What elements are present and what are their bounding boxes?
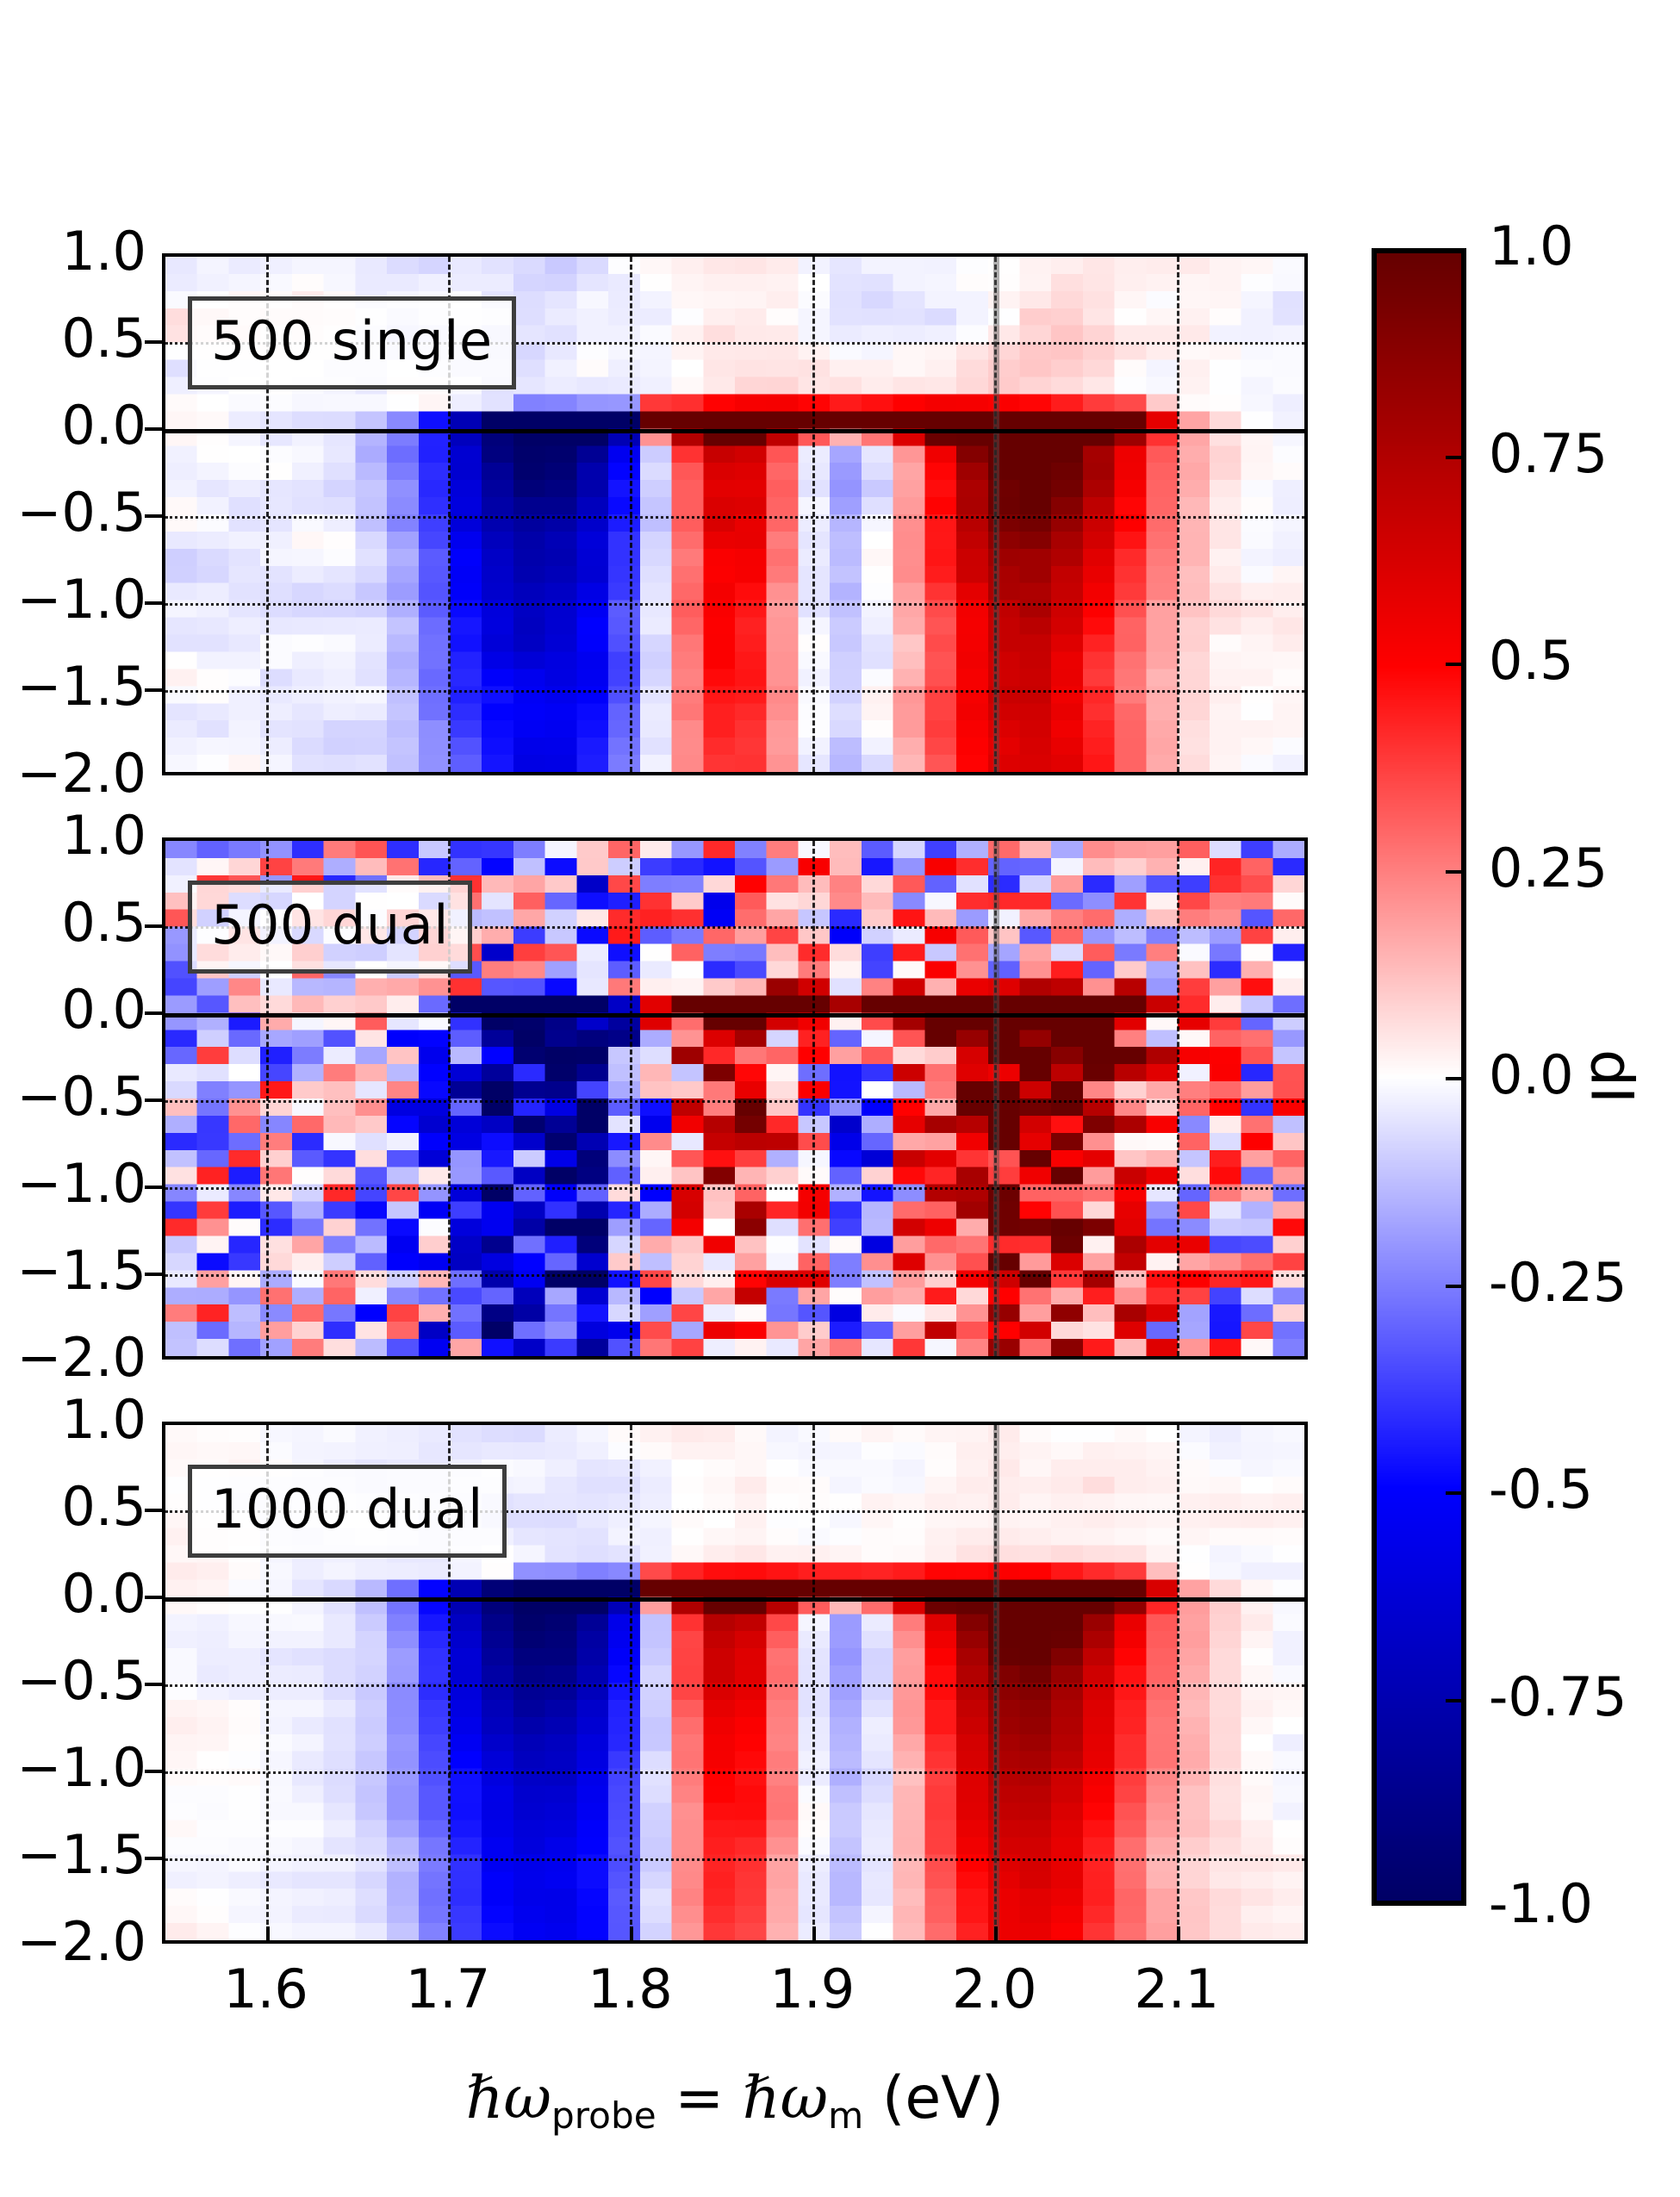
x-tick-label: 1.9 (726, 1963, 899, 2016)
x-tick-label: 1.8 (544, 1963, 716, 2016)
y-tick-mark (145, 340, 164, 344)
y-tick-label: −1.5 (0, 1828, 146, 1882)
x-tick-mark (812, 1926, 816, 1944)
colorbar-tick-mark (1446, 1699, 1465, 1702)
y-tick-label: 0.5 (0, 1480, 146, 1534)
colorbar-tick-label: 0.25 (1489, 842, 1608, 895)
panel-1000-dual[interactable]: 1000 dual (162, 1422, 1308, 1944)
panel-500-dual[interactable]: 500 dual (162, 837, 1308, 1360)
y-tick-mark (145, 1011, 164, 1015)
x-tick-label: 2.0 (908, 1963, 1080, 2016)
y-tick-mark (145, 1509, 164, 1512)
colorbar-tick-mark (1446, 456, 1465, 459)
y-tick-mark (145, 1683, 164, 1686)
y-tick-label: −2.0 (0, 747, 146, 800)
panel-1000-dual-label: 1000 dual (188, 1465, 507, 1558)
probe-marker-line-2eV (993, 841, 999, 1356)
x-tick-mark (994, 1926, 998, 1944)
figure-root: 𝜏21 (ps) 𝜏21 (ps) 𝜏21 (ps) ℏ𝜔probe = ℏ𝜔m… (0, 0, 1680, 2197)
y-tick-label: −2.0 (0, 1915, 146, 1969)
y-tick-label: 0.0 (0, 983, 146, 1036)
probe-marker-line-2eV (993, 257, 999, 772)
y-tick-label: −0.5 (0, 486, 146, 539)
colorbar-tick-label: -1.0 (1489, 1877, 1593, 1931)
y-tick-label: 0.5 (0, 896, 146, 949)
x-axis-label: ℏ𝜔probe = ℏ𝜔m (eV) (162, 2064, 1308, 2137)
probe-marker-line-2eV (993, 1425, 999, 1940)
x-tick-label: 1.7 (362, 1963, 534, 2016)
panel-500-single-label: 500 single (188, 296, 516, 389)
y-tick-mark (145, 1186, 164, 1189)
y-tick-label: 0.0 (0, 1567, 146, 1621)
x-tick-label: 2.1 (1091, 1963, 1263, 2016)
y-tick-label: −0.5 (0, 1070, 146, 1123)
colorbar-tick-label: -0.5 (1489, 1463, 1593, 1516)
colorbar-tick-label: 0.0 (1489, 1049, 1574, 1102)
colorbar-tick-label: 1.0 (1489, 220, 1574, 273)
colorbar-tick-label: -0.25 (1489, 1256, 1627, 1310)
x-tick-label: 1.6 (180, 1963, 352, 2016)
y-tick-label: 0.0 (0, 399, 146, 452)
colorbar-label: dI (1577, 948, 1646, 1206)
y-tick-label: −1.5 (0, 660, 146, 713)
colorbar-tick-mark (1446, 870, 1465, 874)
colorbar-tick-mark (1446, 1077, 1465, 1080)
y-tick-label: −1.0 (0, 1741, 146, 1795)
x-tick-mark (266, 1926, 270, 1944)
y-tick-mark (145, 1273, 164, 1276)
y-tick-label: −1.0 (0, 573, 146, 626)
panel-500-dual-label: 500 dual (188, 881, 472, 974)
colorbar-tick-mark (1446, 1491, 1465, 1495)
y-tick-mark (145, 1596, 164, 1599)
x-tick-mark (448, 1926, 451, 1944)
y-tick-label: −2.0 (0, 1331, 146, 1385)
y-tick-mark (145, 1098, 164, 1102)
y-tick-mark (145, 924, 164, 928)
colorbar-tick-mark (1446, 1285, 1465, 1288)
colorbar-tick-label: 0.75 (1489, 427, 1608, 481)
y-tick-label: 0.5 (0, 312, 146, 365)
y-tick-mark (145, 601, 164, 605)
y-tick-mark (145, 688, 164, 692)
y-tick-label: 1.0 (0, 225, 146, 278)
x-tick-mark (630, 1926, 633, 1944)
y-tick-label: −1.5 (0, 1244, 146, 1298)
y-tick-mark (145, 514, 164, 518)
y-tick-label: −0.5 (0, 1654, 146, 1708)
y-tick-label: 1.0 (0, 809, 146, 862)
y-tick-label: −1.0 (0, 1157, 146, 1211)
y-tick-mark (145, 427, 164, 431)
colorbar-tick-label: -0.75 (1489, 1671, 1627, 1724)
y-tick-mark (145, 1857, 164, 1860)
y-tick-mark (145, 1770, 164, 1773)
x-tick-mark (1177, 1926, 1180, 1944)
panel-500-single[interactable]: 500 single (162, 253, 1308, 775)
y-tick-label: 1.0 (0, 1393, 146, 1447)
colorbar-tick-mark (1446, 663, 1465, 666)
colorbar-tick-label: 0.5 (1489, 634, 1574, 688)
